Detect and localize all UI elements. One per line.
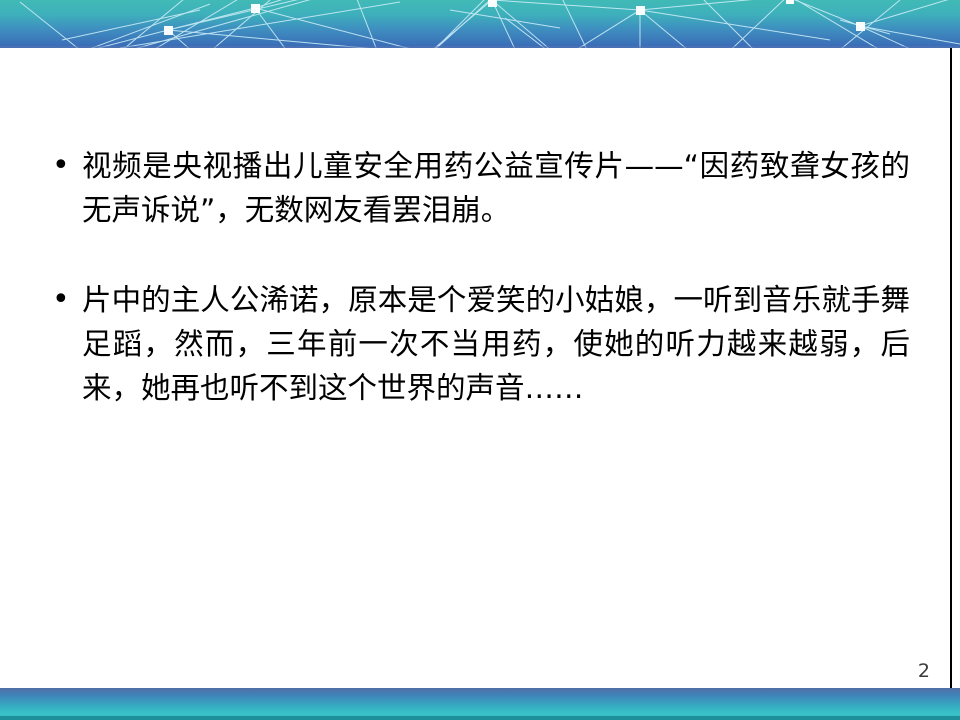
right-border-rule (950, 48, 952, 688)
bullet-text-2: 片中的主人公浠诺，原本是个爱笑的小姑娘，一听到音乐就手舞足蹈，然而，三年前一次不… (82, 278, 910, 410)
network-constellation-graphic (0, 0, 960, 48)
bullet-dot-icon: • (40, 144, 82, 188)
bullet-item-1: • 视频是央视播出儿童安全用药公益宣传片——“因药致聋女孩的无声诉说”，无数网友… (40, 144, 910, 232)
bullet-row: • 视频是央视播出儿童安全用药公益宣传片——“因药致聋女孩的无声诉说”，无数网友… (40, 144, 910, 232)
slide-content: • 视频是央视播出儿童安全用药公益宣传片——“因药致聋女孩的无声诉说”，无数网友… (0, 48, 950, 688)
page-number: 2 (918, 660, 930, 682)
bullet-row: • 片中的主人公浠诺，原本是个爱笑的小姑娘，一听到音乐就手舞足蹈，然而，三年前一… (40, 278, 910, 410)
bullet-text-1: 视频是央视播出儿童安全用药公益宣传片——“因药致聋女孩的无声诉说”，无数网友看罢… (82, 144, 910, 232)
bullet-dot-icon: • (40, 278, 82, 322)
top-banner (0, 0, 960, 48)
slide: • 视频是央视播出儿童安全用药公益宣传片——“因药致聋女孩的无声诉说”，无数网友… (0, 0, 960, 720)
footer-bottom-edge (0, 716, 960, 720)
bullet-item-2: • 片中的主人公浠诺，原本是个爱笑的小姑娘，一听到音乐就手舞足蹈，然而，三年前一… (40, 278, 910, 410)
